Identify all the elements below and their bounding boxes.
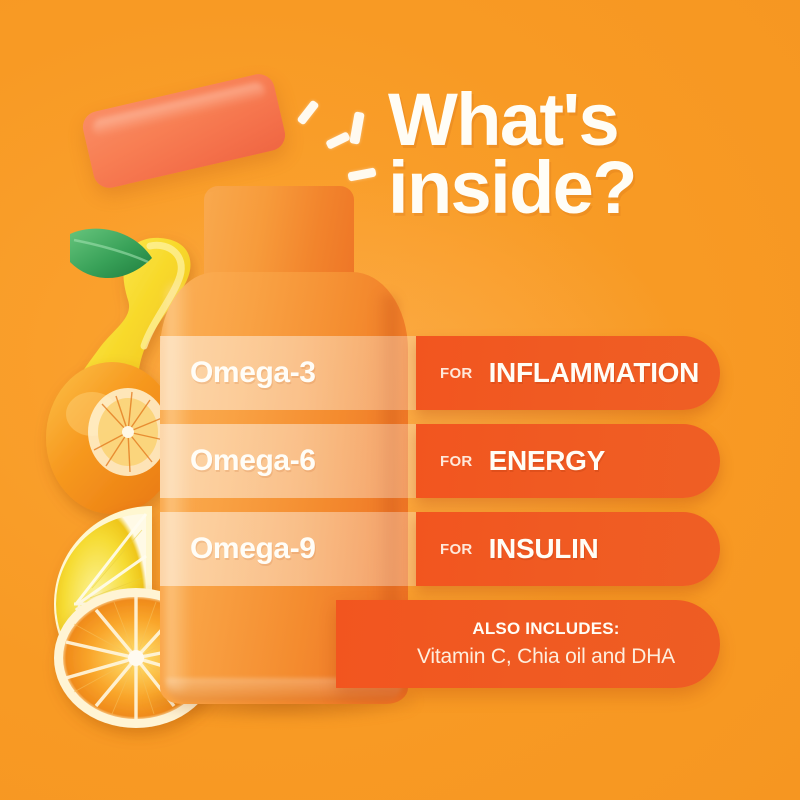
benefit-label: ENERGY	[489, 445, 605, 477]
infographic-canvas: What's inside? Omega-3 FOR INFLAMMATION …	[0, 0, 800, 800]
sparkle-icon	[349, 111, 364, 144]
cap-gloss	[91, 81, 267, 138]
sparkle-icon	[296, 99, 319, 125]
for-label: FOR	[440, 541, 473, 558]
also-includes-pill: ALSO INCLUDES: Vitamin C, Chia oil and D…	[336, 600, 720, 688]
for-label: FOR	[440, 365, 473, 382]
also-includes-title: ALSO INCLUDES:	[472, 619, 619, 639]
benefit-pill: FOR INFLAMMATION	[416, 336, 720, 410]
ingredient-name: Omega-6	[190, 424, 316, 498]
orange-whole-shape	[46, 362, 178, 514]
lemon-wedge-shape	[54, 506, 152, 702]
leaf-shape	[70, 229, 152, 278]
for-label: FOR	[440, 453, 473, 470]
benefit-label: INSULIN	[489, 533, 599, 565]
orange-pith-detail	[88, 388, 168, 476]
sparkle-icon	[347, 167, 376, 181]
ingredient-name: Omega-9	[190, 512, 316, 586]
also-includes-body: Vitamin C, Chia oil and DHA	[417, 645, 675, 669]
ingredient-name: Omega-3	[190, 336, 316, 410]
title-line-2: inside?	[388, 154, 778, 222]
sparkle-icon	[325, 131, 351, 150]
title-line-1: What's	[388, 86, 778, 154]
benefit-pill: FOR ENERGY	[416, 424, 720, 498]
benefit-label: INFLAMMATION	[489, 357, 700, 389]
bottle-cap	[80, 71, 289, 191]
page-title: What's inside?	[388, 86, 778, 222]
benefit-pill: FOR INSULIN	[416, 512, 720, 586]
